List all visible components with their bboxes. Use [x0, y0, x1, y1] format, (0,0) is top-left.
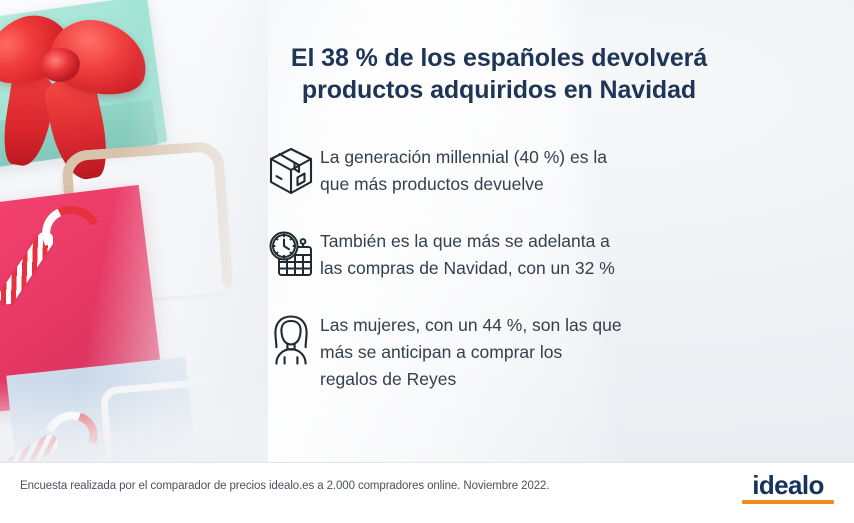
- clock-calendar-icon: [262, 226, 320, 288]
- list-item-line: Las mujeres, con un 44 %, son las que: [320, 312, 732, 339]
- survey-source-note: Encuesta realizada por el comparador de …: [20, 480, 549, 492]
- list-item-text: También es la que más se adelanta a las …: [320, 226, 732, 282]
- footer-divider: [0, 462, 854, 463]
- woman-avatar-icon: [262, 310, 320, 372]
- list-item-line: las compras de Navidad, con un 32 %: [320, 255, 732, 282]
- idealo-logo-underline: [742, 500, 834, 504]
- infographic-canvas: El 38 % de los españoles devolverá produ…: [0, 0, 854, 523]
- package-box-icon: [262, 142, 320, 204]
- footer-bar: Encuesta realizada por el comparador de …: [0, 462, 854, 523]
- idealo-logo-text: idealo: [742, 471, 834, 499]
- idealo-logo: idealo: [742, 471, 834, 504]
- page-title: El 38 % de los españoles devolverá produ…: [262, 42, 736, 106]
- list-item-text: Las mujeres, con un 44 %, son las que má…: [320, 310, 732, 393]
- list-item-line: regalos de Reyes: [320, 366, 732, 393]
- list-item: La generación millennial (40 %) es la qu…: [262, 142, 732, 204]
- list-item-line: que más productos devuelve: [320, 171, 732, 198]
- page-title-line-1: El 38 % de los españoles devolverá: [262, 42, 736, 74]
- page-title-line-2: productos adquiridos en Navidad: [262, 74, 736, 106]
- list-item: Las mujeres, con un 44 %, son las que má…: [262, 310, 732, 393]
- key-findings-list: La generación millennial (40 %) es la qu…: [262, 142, 732, 393]
- list-item-text: La generación millennial (40 %) es la qu…: [320, 142, 732, 198]
- content-column: El 38 % de los españoles devolverá produ…: [262, 0, 854, 462]
- list-item-line: También es la que más se adelanta a: [320, 228, 732, 255]
- photo-bottom-fade: [0, 380, 268, 470]
- list-item: También es la que más se adelanta a las …: [262, 226, 732, 288]
- list-item-line: La generación millennial (40 %) es la: [320, 144, 732, 171]
- list-item-line: más se anticipan a comprar los: [320, 339, 732, 366]
- christmas-photo: [0, 0, 268, 470]
